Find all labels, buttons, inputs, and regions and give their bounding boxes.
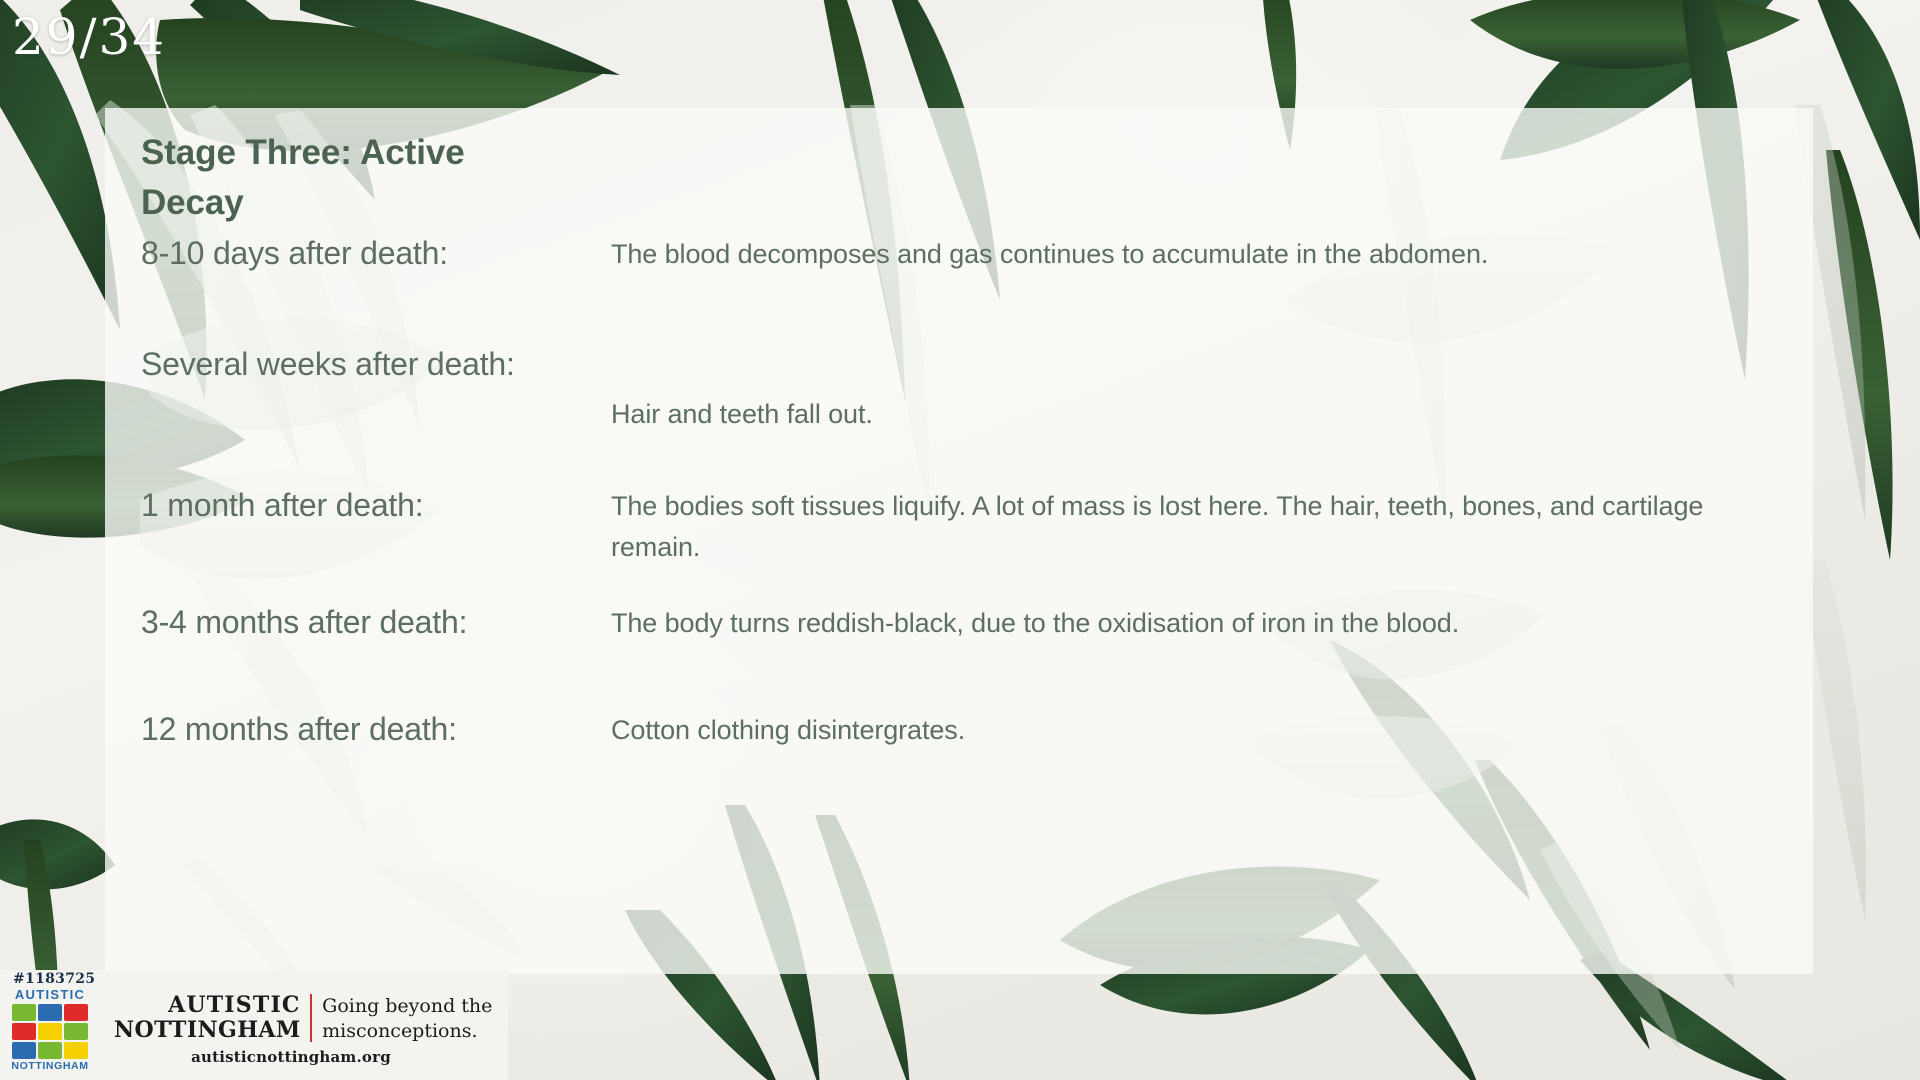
row-definition: The blood decomposes and gas continues t… [611, 229, 1783, 275]
wordmark-name: AUTISTIC NOTTINGHAM [114, 993, 310, 1043]
row-definition: Hair and teeth fall out. [611, 340, 1783, 435]
content-panel: Stage Three: Active Decay 8-10 days afte… [105, 108, 1813, 974]
row-definition: The body turns reddish-black, due to the… [611, 598, 1783, 644]
row-term: 8-10 days after death: [141, 229, 611, 278]
logo-square [64, 1004, 88, 1021]
table-row: 1 month after death: The bodies soft tis… [141, 481, 1783, 568]
tagline-line-1: Going beyond the [322, 994, 492, 1019]
logo-colour-grid [12, 1004, 88, 1059]
logo-mark-bottom-word: NOTTINGHAM [11, 1061, 88, 1073]
row-definition: Cotton clothing disintergrates. [611, 705, 1783, 751]
logo-square [64, 1042, 88, 1059]
charity-number: #1183725 [0, 970, 508, 987]
logo-square [38, 1004, 62, 1021]
autistic-nottingham-logo-icon: AUTISTIC NOTTINGHAM [8, 987, 92, 1073]
row-definition: The bodies soft tissues liquify. A lot o… [611, 481, 1783, 568]
row-term: 12 months after death: [141, 705, 611, 754]
table-row: Several weeks after death: Hair and teet… [141, 340, 1783, 435]
page-counter: 29/34 [12, 10, 166, 65]
logo-square [38, 1042, 62, 1059]
logo-row: AUTISTIC NOTTINGHAM AUTISTIC [0, 987, 508, 1080]
content-panel-inner: Stage Three: Active Decay 8-10 days afte… [141, 128, 1783, 974]
logo-square [12, 1004, 36, 1021]
table-row: 3-4 months after death: The body turns r… [141, 598, 1783, 647]
slide-canvas: 29/34 Stage Three: Active Decay 8-10 day… [0, 0, 1920, 1080]
row-term: 3-4 months after death: [141, 598, 611, 647]
tagline-line-2: misconceptions. [322, 1019, 492, 1044]
logo-mark-top-word: AUTISTIC [15, 988, 85, 1002]
logo-square [38, 1023, 62, 1040]
wordmark-line-1: AUTISTIC [114, 993, 301, 1018]
row-term: 1 month after death: [141, 481, 611, 530]
logo-square [12, 1042, 36, 1059]
organisation-logo-block: #1183725 AUTISTIC NOTTINGHAM [0, 970, 508, 1080]
logo-square [12, 1023, 36, 1040]
logo-square [64, 1023, 88, 1040]
table-row: 12 months after death: Cotton clothing d… [141, 705, 1783, 754]
logo-wordmark: AUTISTIC NOTTINGHAM Going beyond the mis… [92, 987, 508, 1066]
page-title: Stage Three: Active Decay [141, 128, 571, 227]
organisation-url: autisticnottingham.org [114, 1043, 508, 1066]
row-term: Several weeks after death: [141, 340, 611, 389]
wordmark-top: AUTISTIC NOTTINGHAM Going beyond the mis… [114, 993, 508, 1043]
wordmark-tagline: Going beyond the misconceptions. [312, 993, 492, 1043]
table-row: 8-10 days after death: The blood decompo… [141, 229, 1783, 278]
wordmark-line-2: NOTTINGHAM [114, 1018, 301, 1043]
